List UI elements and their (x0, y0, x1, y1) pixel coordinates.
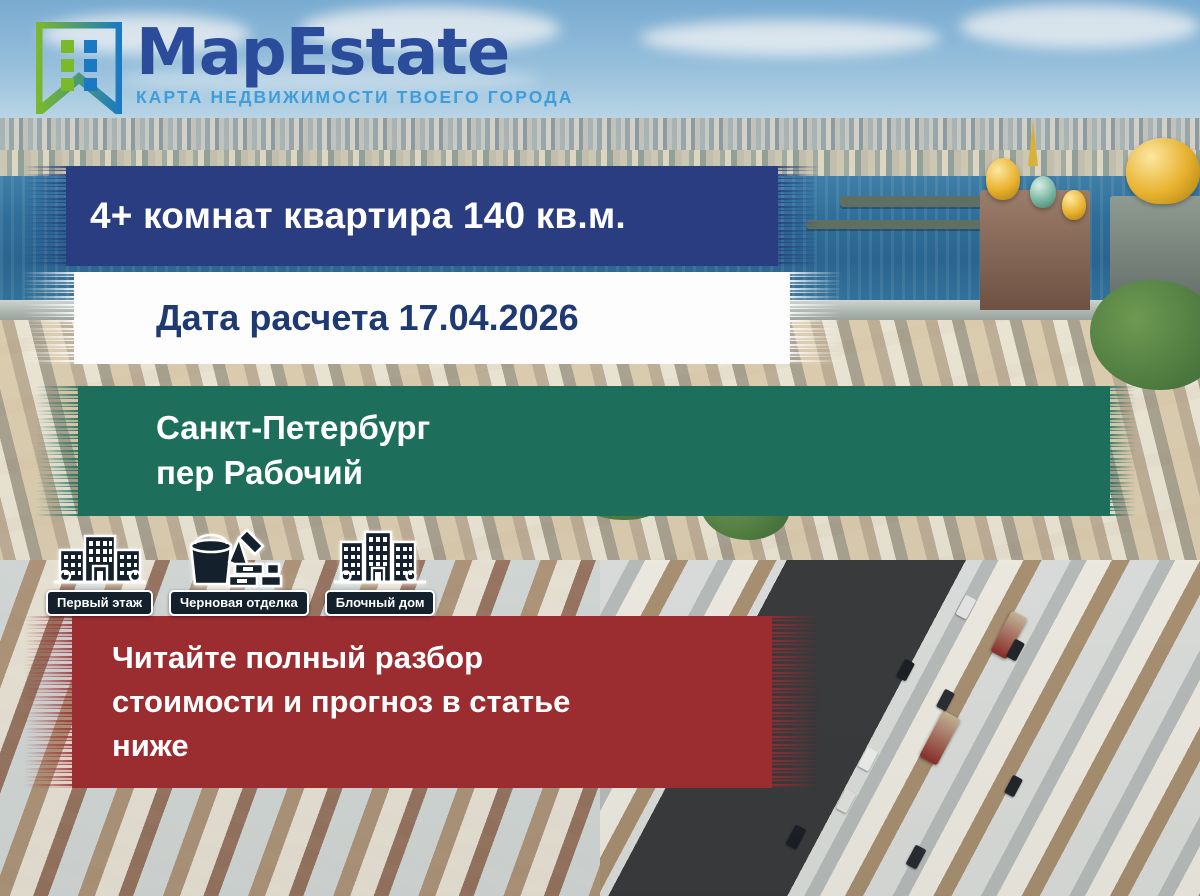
calculation-date-text: Дата расчета 17.04.2026 (74, 297, 579, 339)
cta-line-2: стоимости и прогноз в статье (112, 680, 570, 724)
brand-tagline: КАРТА НЕДВИЖИМОСТИ ТВОЕГО ГОРОДА (136, 87, 574, 108)
badge-rough-finish[interactable]: Черновая отделка (169, 524, 309, 616)
cta-line-3: ниже (112, 724, 570, 768)
location-street: пер Рабочий (156, 451, 430, 496)
cta-line-1: Читайте полный разбор (112, 636, 570, 680)
badge-first-floor[interactable]: Первый этаж (46, 532, 153, 616)
location-city: Санкт-Петербург (156, 406, 430, 451)
calculation-date-banner: Дата расчета 17.04.2026 (74, 272, 790, 364)
property-banner: 4+ комнат квартира 140 кв.м. (66, 166, 778, 266)
brand-name-estate: Estate (286, 16, 510, 90)
location-text: Санкт-Петербург пер Рабочий (78, 406, 430, 495)
brand-name: MapEstate (136, 24, 574, 83)
location-banner: Санкт-Петербург пер Рабочий (78, 386, 1110, 516)
cta-banner[interactable]: Читайте полный разбор стоимости и прогно… (72, 616, 772, 788)
apartment-blocks-icon (331, 528, 429, 594)
promo-card: MapEstate КАРТА НЕДВИЖИМОСТИ ТВОЕГО ГОРО… (0, 0, 1200, 896)
feature-badges: Первый этаж (46, 524, 435, 616)
badge-block-house[interactable]: Блочный дом (325, 528, 436, 616)
bookmark-building-logo-icon (36, 22, 122, 114)
cta-text: Читайте полный разбор стоимости и прогно… (72, 636, 570, 768)
brand-logo[interactable]: MapEstate КАРТА НЕДВИЖИМОСТИ ТВОЕГО ГОРО… (36, 22, 574, 114)
paint-bucket-trowel-bricks-icon (185, 524, 293, 594)
property-title: 4+ комнат квартира 140 кв.м. (66, 195, 626, 237)
brand-name-map: Map (136, 16, 286, 90)
office-building-icon (52, 532, 148, 594)
